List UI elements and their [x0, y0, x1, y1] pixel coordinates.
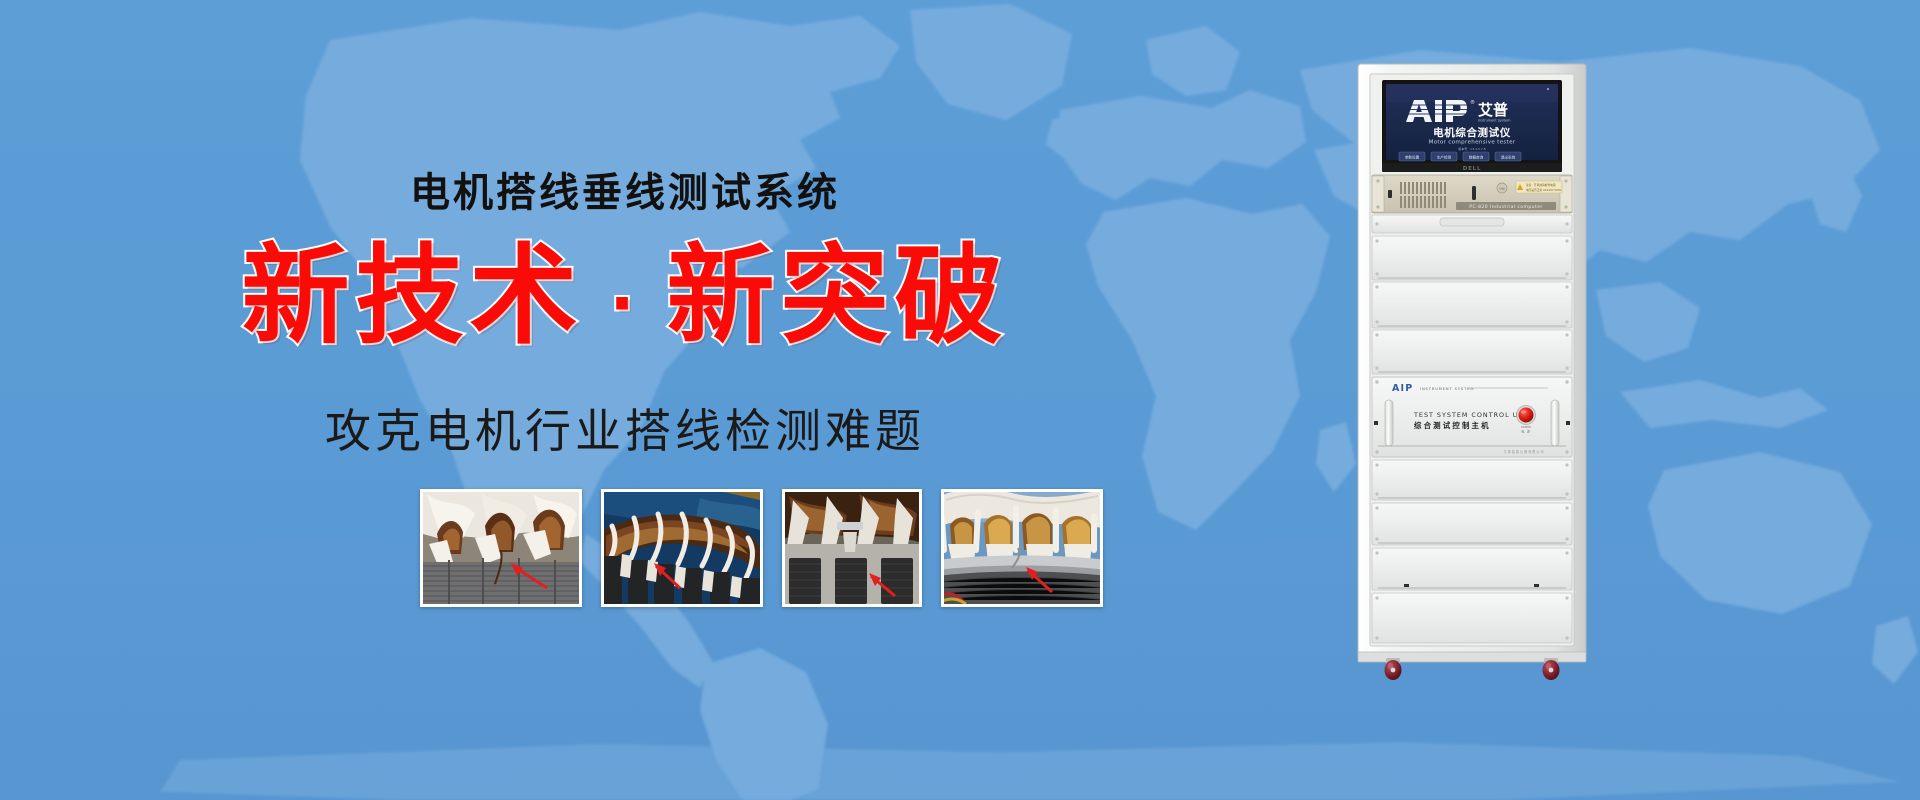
headline-separator-dot: ·: [583, 265, 666, 342]
blank-panel: [1372, 236, 1572, 280]
equipment-rack-cabinet[interactable]: DELL ® 艾普: [1352, 60, 1592, 680]
blank-panel: [1372, 460, 1572, 500]
photo-stator-lacing: [604, 492, 760, 604]
photo-stator-insulation: [785, 492, 919, 604]
screen-product-name-cn: 电机综合测试仪: [1433, 126, 1511, 139]
control-unit-footer-note: 艾普智能仪器有限公司: [1504, 449, 1545, 454]
promotional-banner: 电机搭线垂线测试系统 新技术·新突破 攻克电机行业搭线检测难题: [0, 0, 1920, 800]
logo-sub-en: Instrument System: [1478, 119, 1511, 123]
monitor-brand-label: DELL: [1463, 166, 1482, 172]
photo-thumbnail-strip: [420, 489, 1103, 607]
svg-text:参数设置: 参数设置: [1405, 155, 1420, 160]
thumbnail-stator-slot-insulation[interactable]: [782, 489, 922, 607]
headline-left-phrase: 新技术: [241, 234, 583, 359]
keyboard-drawer: [1372, 215, 1572, 233]
blank-panel-group-lower: [1372, 460, 1572, 643]
headline-text-block: 电机搭线垂线测试系统 新技术·新突破 攻克电机行业搭线检测难题: [0, 0, 1250, 800]
control-unit-title-en: TEST SYSTEM CONTROL UNIT: [1413, 411, 1532, 419]
thumbnail-stator-winding-lacing[interactable]: [601, 489, 763, 607]
banner-headline: 新技术·新突破: [0, 240, 1250, 353]
pc-model-label: PC-820 Industrial computer: [1469, 204, 1542, 210]
panel-handle-left: [1385, 400, 1393, 446]
caster-left: [1385, 658, 1402, 680]
blank-panel: [1372, 593, 1572, 643]
panel-handle-right: [1551, 400, 1559, 446]
screen-button-exit: 退出系统: [1495, 152, 1521, 161]
banner-subtitle: 电机搭线垂线测试系统: [0, 160, 1250, 218]
blank-panel-group-upper: [1372, 236, 1572, 374]
rack-graphic: DELL ® 艾普: [1352, 60, 1592, 680]
screen-version-line: 版本号：V3.2.5.7.8: [1458, 146, 1486, 151]
control-unit-brand-sub: INSTRUMENT SYSTEM: [1420, 387, 1474, 391]
screen-button-production-test: 生产检测: [1431, 152, 1457, 161]
svg-text:生产检测: 生产检测: [1437, 155, 1452, 160]
svg-text:数据查询: 数据查询: [1469, 155, 1484, 160]
pc-warning-line1: 注意：开机前请检查电源: [1526, 183, 1556, 187]
control-unit-title-cn: 综合测试控制主机: [1414, 421, 1491, 430]
blank-panel: [1372, 503, 1572, 545]
photo-stator-slot-wedges: [423, 492, 579, 604]
svg-text:ON: ON: [1499, 187, 1505, 191]
power-button-label-cn: 电 源: [1521, 429, 1530, 434]
caster-right: [1543, 658, 1560, 680]
photo-stator-copper-overview: [944, 492, 1100, 604]
screen-button-settings: 参数设置: [1399, 152, 1425, 161]
registered-mark: ®: [1470, 99, 1475, 106]
screen-button-data-query: 数据查询: [1463, 152, 1489, 161]
blank-panel: [1372, 330, 1572, 374]
screen-product-name-en: Motor comprehensive tester: [1429, 140, 1516, 146]
pc-warning-line2: 电压是否正常 AC220V 50Hz: [1526, 188, 1562, 192]
logo-chinese-name: 艾普: [1478, 101, 1508, 119]
power-button-label-en: POWER: [1521, 425, 1531, 429]
svg-text:退出系统: 退出系统: [1501, 155, 1516, 160]
headline-right-phrase: 新突破: [667, 234, 1009, 359]
control-unit-brand: AIP: [1392, 383, 1413, 394]
industrial-computer-unit: ON 注意：开机前请检查电源 电压是否正常 AC220V 50Hz PC-820…: [1372, 175, 1572, 213]
blank-panel: [1372, 548, 1572, 590]
thumbnail-stator-copper-winding-overview[interactable]: [941, 489, 1103, 607]
blank-panel: [1372, 282, 1572, 328]
thumbnail-stator-slot-wedges-closeup[interactable]: [420, 489, 582, 607]
test-system-control-unit: AIP INSTRUMENT SYSTEM TEST SYSTEM CONTRO…: [1372, 377, 1572, 457]
banner-tagline: 攻克电机行业搭线检测难题: [0, 395, 1250, 461]
